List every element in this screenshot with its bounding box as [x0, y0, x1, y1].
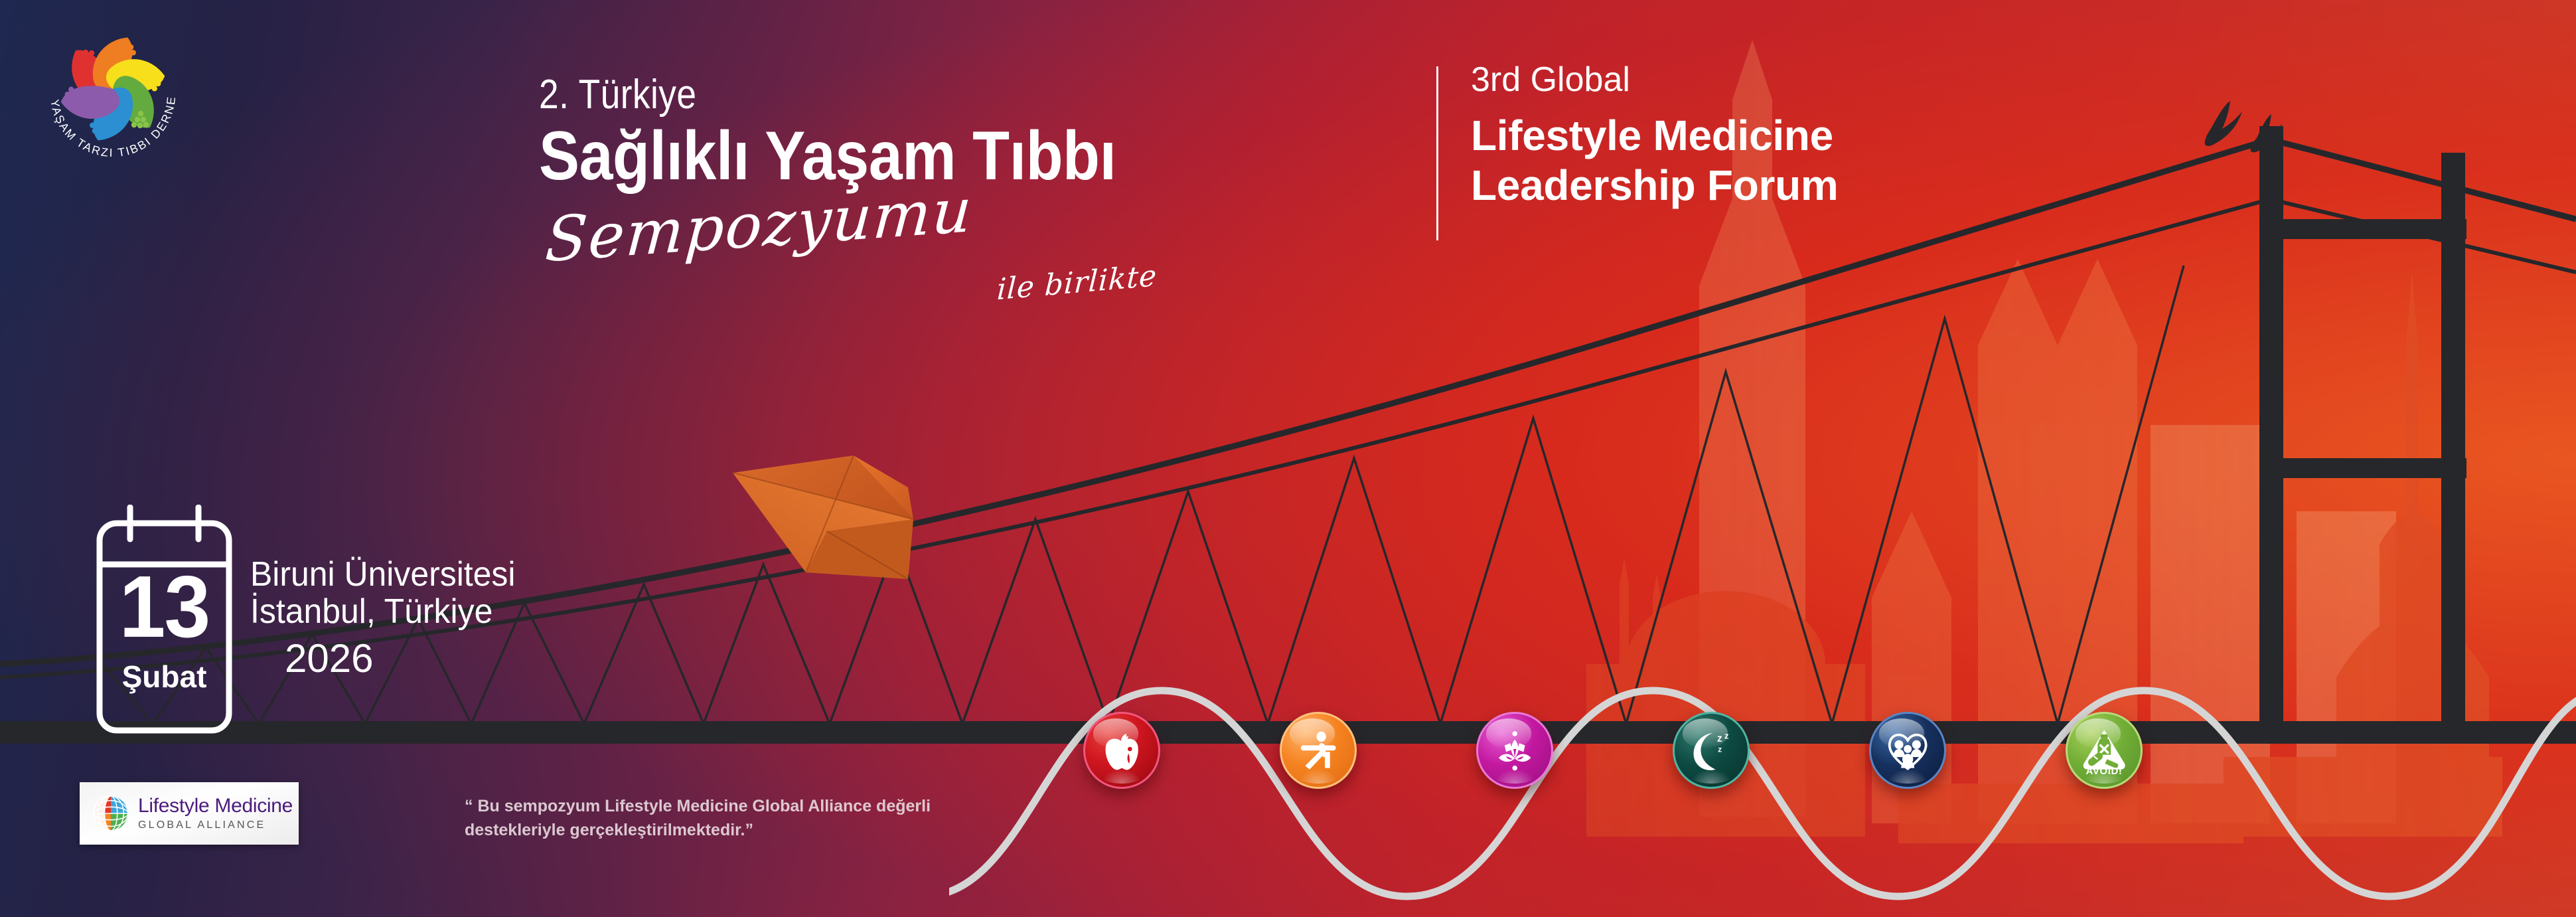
forum-line-1: 3rd Global — [1471, 61, 2068, 99]
forum-title-block: 3rd Global Lifestyle Medicine Leadership… — [1471, 61, 2068, 210]
calendar-day: 13 — [96, 563, 232, 651]
date-venue-block: 13 Şubat Biruni Üniversitesi İstanbul, T… — [93, 505, 526, 737]
association-logo: YAŞAM TARZI TIBBI DERNEĞİ — [40, 20, 186, 166]
calendar-month: Şubat — [93, 659, 236, 695]
venue-line-1: Biruni Üniversitesi — [250, 556, 515, 594]
calendar-icon: 13 Şubat — [93, 505, 236, 737]
title-line-1: 2. Türkiye — [539, 73, 1304, 116]
pillar-wave-ribbon — [949, 584, 2576, 916]
sponsor-logo-subtitle: GLOBAL ALLIANCE — [138, 819, 293, 831]
lifestyle-medicine-global-alliance-logo: Lifestyle Medicine GLOBAL ALLIANCE — [80, 782, 299, 845]
title-divider — [1436, 66, 1438, 240]
seagull-icon — [2205, 101, 2282, 152]
globe-icon — [90, 793, 131, 834]
event-year: 2026 — [285, 637, 526, 681]
event-banner: YAŞAM TARZI TIBBI DERNEĞİ — [0, 0, 2576, 917]
event-title-block: 2. Türkiye Sağlıklı Yaşam Tıbbı Sempozyu… — [539, 73, 1428, 307]
sponsor-disclaimer: “ Bu sempozyum Lifestyle Medicine Global… — [465, 794, 982, 843]
venue-text: Biruni Üniversitesi İstanbul, Türkiye 20… — [250, 505, 526, 681]
origami-boat-icon — [727, 446, 1006, 606]
title-script-sub: ile birlikte — [996, 235, 1428, 307]
forum-line-3: Leadership Forum — [1471, 161, 2068, 210]
sponsor-logo-title: Lifestyle Medicine — [138, 796, 293, 816]
venue-line-2: İstanbul, Türkiye — [250, 594, 515, 631]
forum-line-2: Lifestyle Medicine — [1471, 111, 2068, 161]
